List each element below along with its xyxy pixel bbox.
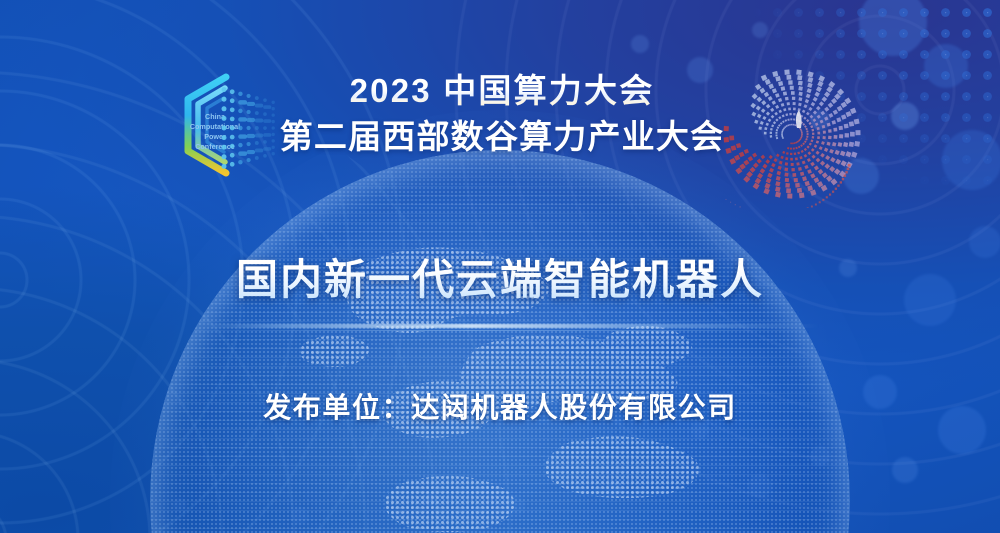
globe-light-streak-secondary [240,330,800,331]
conference-title-line-2: 第二届西部数谷算力产业大会 [272,118,732,157]
conference-title-block: 2023 中国算力大会 第二届西部数谷算力产业大会 [272,72,732,157]
globe-light-streak [200,324,820,328]
radial-spiral-graphic [722,58,872,208]
poster-headline: 国内新一代云端智能机器人 [0,246,1000,307]
poster-canvas: China Computational Power Conference 202… [0,0,1000,533]
logo-text-line-4: Conference [195,142,235,151]
china-computational-power-conference-logo: China Computational Power Conference [168,68,288,188]
publisher-line: 发布单位：达闼机器人股份有限公司 [0,386,1000,426]
conference-title-line-1: 2023 中国算力大会 [272,72,732,111]
